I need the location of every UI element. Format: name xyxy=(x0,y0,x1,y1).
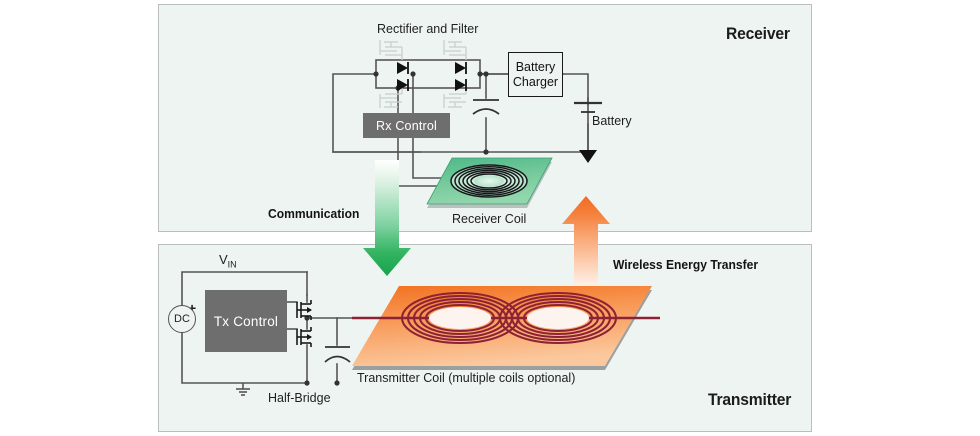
wireless-energy-arrow xyxy=(562,196,610,296)
transmitter-coil-label: Transmitter Coil (multiple coils optiona… xyxy=(357,371,575,385)
vin-label: VIN xyxy=(219,252,237,270)
half-bridge-label: Half-Bridge xyxy=(268,391,331,405)
battery-charger-block[interactable]: Battery Charger xyxy=(508,52,563,97)
receiver-ground-symbol xyxy=(579,150,597,163)
transmitter-title: Transmitter xyxy=(708,390,791,410)
bridge-diode-group xyxy=(397,62,466,91)
transmitter-ground-symbol xyxy=(236,383,250,395)
battery-charger-line-2: Charger xyxy=(513,75,558,90)
receiver-title: Receiver xyxy=(726,24,790,44)
diagram-canvas: Receiver Transmitter Rectifier and Filte… xyxy=(0,0,980,436)
ghost-mosfet-group xyxy=(380,40,466,108)
wireless-energy-transfer-label: Wireless Energy Transfer xyxy=(613,257,758,272)
communication-label: Communication xyxy=(268,206,359,221)
rectifier-and-filter-label: Rectifier and Filter xyxy=(377,22,478,36)
transmitter-coil-assembly xyxy=(352,286,660,370)
vin-letter: V xyxy=(219,252,228,267)
receiver-coil-assembly xyxy=(427,158,552,208)
battery-charger-line-1: Battery xyxy=(513,60,558,75)
dc-source-symbol: DC xyxy=(168,305,196,333)
transmitter-junction-dots xyxy=(304,315,339,385)
tx-control-block[interactable]: Tx Control xyxy=(205,290,287,352)
battery-label: Battery xyxy=(592,114,632,128)
resonant-capacitor xyxy=(325,347,350,362)
rx-control-block[interactable]: Rx Control xyxy=(363,113,450,138)
communication-arrow xyxy=(363,160,411,276)
vin-subscript: IN xyxy=(228,260,237,270)
filter-capacitor xyxy=(473,100,499,114)
receiver-coil-label: Receiver Coil xyxy=(452,212,526,226)
half-bridge-mosfet-group xyxy=(297,300,312,347)
